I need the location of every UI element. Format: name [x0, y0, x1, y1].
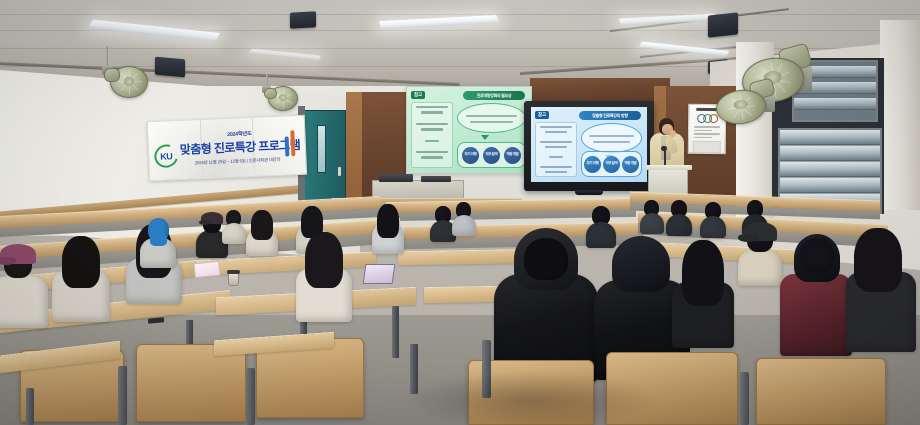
slide-circle: 자기 이해: [462, 147, 479, 164]
slide-title: 진로역량강화의 필요성: [463, 91, 525, 100]
lecture-hall-photo: KU 2024학년도 맞춤형 진로특강 프로그램 2024년 11월 25일 ~…: [0, 0, 920, 425]
monitor-stand: [575, 190, 603, 195]
wall-monitor: 참고 맞춤형 진로특강의 방향 자기 이해: [524, 101, 654, 191]
poster-body-block: [693, 141, 721, 153]
slide-oval-box: [581, 123, 642, 153]
banner-accent-bars: [284, 130, 297, 156]
slide-title: 맞춤형 진로특강의 방향: [579, 111, 641, 120]
classroom-door[interactable]: [304, 110, 346, 210]
speaker-box: [290, 11, 316, 28]
cap-brim: [738, 234, 758, 242]
laptop[interactable]: [363, 264, 396, 284]
audience-member: [140, 218, 176, 264]
audience-member: [52, 236, 110, 320]
banner-title: 맞춤형 진로특강 프로그램: [180, 136, 301, 158]
slide-circle-group: 자기 이해 직무 탐색 역량 개발: [581, 151, 642, 177]
banner-year: 2024학년도: [227, 130, 252, 138]
chair-frame: [26, 388, 34, 425]
audience-member: [780, 234, 852, 352]
slide-circle: 자기 이해: [584, 156, 601, 173]
slide-tag: 참고: [535, 111, 549, 119]
wall-fan: [258, 74, 314, 114]
audience-member: [494, 228, 598, 378]
slide-circle: 직무 탐색: [483, 147, 500, 164]
audience-member: [452, 202, 476, 234]
slide-circle-group: 자기 이해 직무 탐색 역량 개발: [457, 142, 526, 168]
ku-logo-text: KU: [160, 151, 172, 161]
chair-frame: [482, 340, 491, 398]
lecture-chair[interactable]: [606, 352, 738, 425]
slide-circle: 직무 탐색: [603, 156, 620, 173]
audience-member: [640, 200, 664, 232]
hood: [612, 236, 670, 292]
slide-tag: 참고: [411, 91, 425, 99]
drink-cup: [228, 272, 239, 286]
handout-paper: [193, 261, 220, 279]
speaker-box: [708, 12, 738, 37]
slide-content-projected: 참고 진로역량강화의 필요성 자기 이해 직무 탐색 역량 개발: [407, 87, 531, 173]
slide-left-column: [411, 102, 453, 168]
audience-member: [672, 240, 734, 344]
pillar: [880, 20, 920, 210]
chair-frame: [118, 366, 127, 425]
audience-member: [738, 222, 782, 282]
microphone-icon: [661, 146, 667, 151]
cup-lid: [227, 270, 240, 274]
slide-content-monitor: 참고 맞춤형 진로특강의 방향 자기 이해: [531, 107, 647, 182]
front-wood-panel: [346, 92, 362, 210]
audience-member: [700, 202, 726, 236]
chair-frame: [246, 368, 255, 425]
slide-oval-box: [457, 103, 526, 133]
lecture-chair[interactable]: [136, 344, 246, 422]
banner-subtitle: 2024년 11월 25일 ~ 12월 6일 | 인문사회관 대강당: [195, 157, 281, 167]
wall-fan: [96, 46, 166, 98]
desk-leg: [410, 344, 418, 394]
audience-member: [222, 210, 246, 242]
lecture-chair[interactable]: [756, 358, 886, 425]
audience-member: [246, 210, 278, 254]
audience-member: [846, 228, 916, 348]
slide-left-column: [535, 122, 577, 177]
desk-leg: [392, 306, 399, 358]
cap-brim: [199, 220, 211, 225]
audience-member: [372, 204, 404, 252]
ku-logo-icon: KU: [151, 143, 182, 170]
slide-arrow-icon: [481, 135, 489, 140]
slide-circle: 역량 개발: [622, 156, 639, 173]
projector-screen: 참고 진로역량강화의 필요성 자기 이해 직무 탐색 역량 개발: [406, 86, 532, 174]
wall-fan: [712, 72, 788, 130]
event-banner: KU 2024학년도 맞춤형 진로특강 프로그램 2024년 11월 25일 ~…: [147, 115, 307, 182]
chair-frame: [740, 372, 749, 425]
audience-member: [296, 232, 352, 318]
audience-member: [666, 200, 692, 234]
slide-circle: 역량 개발: [504, 147, 521, 164]
audience-member: [0, 244, 48, 326]
